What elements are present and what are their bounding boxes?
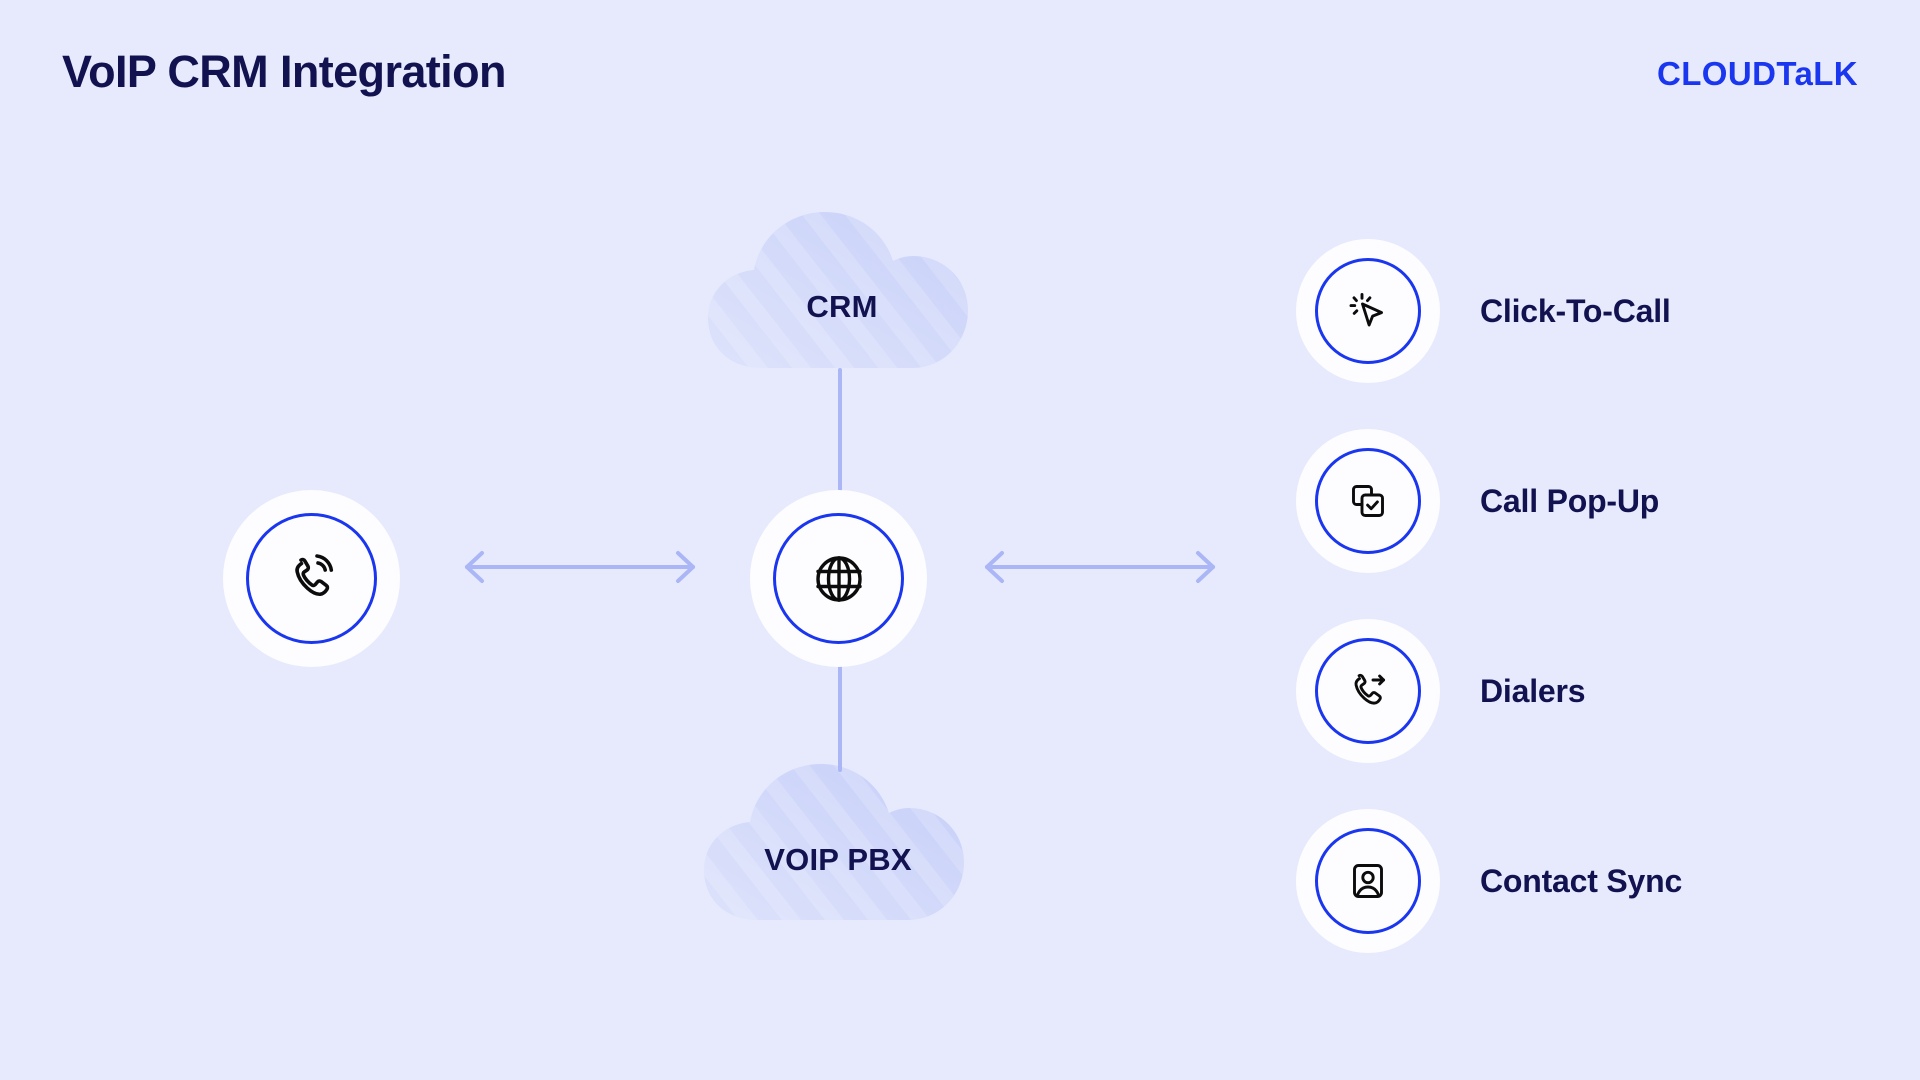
feature-badge [1296,809,1440,953]
popup-window-check-icon [1343,476,1393,526]
phone-forward-icon [1343,666,1393,716]
cursor-click-icon [1343,286,1393,336]
connector-crm-to-hub [838,368,842,496]
feature-ring [1315,258,1421,364]
double-arrow-icon [975,544,1225,590]
contact-card-icon [1343,856,1393,906]
cloudtalk-logo: CLOUDTaLK [1657,55,1858,93]
connector-arrow-right [975,544,1225,590]
cloud-shape-icon [704,200,980,368]
feature-label: Call Pop-Up [1480,483,1659,520]
feature-ring [1315,448,1421,554]
feature-row-contact-sync[interactable]: Contact Sync [1296,786,1682,976]
node-ring [246,513,377,644]
logo-part-2: a [1794,55,1813,92]
cloud-voip-pbx-label: VOIP PBX [700,842,976,878]
page-title: VoIP CRM Integration [62,46,506,98]
feature-label: Contact Sync [1480,863,1682,900]
double-arrow-icon [455,544,705,590]
globe-icon [810,550,868,608]
cloud-crm-label: CRM [704,289,980,325]
logo-part-1: CLOUDT [1657,55,1794,92]
feature-badge [1296,619,1440,763]
node-integration-hub [750,490,927,667]
cloud-crm: CRM [704,200,980,368]
feature-label: Dialers [1480,673,1585,710]
cloud-voip-pbx: VOIP PBX [700,760,976,928]
infographic-canvas: VoIP CRM Integration CLOUDTaLK [0,0,1920,1080]
feature-label: Click-To-Call [1480,293,1671,330]
feature-row-dialers[interactable]: Dialers [1296,596,1682,786]
connector-arrow-left [455,544,705,590]
node-ring [773,513,904,644]
feature-row-call-pop-up[interactable]: Call Pop-Up [1296,406,1682,596]
feature-row-click-to-call[interactable]: Click-To-Call [1296,216,1682,406]
feature-badge [1296,239,1440,383]
logo-part-3: LK [1813,55,1858,92]
feature-ring [1315,828,1421,934]
feature-list: Click-To-Call Call Pop-Up [1296,216,1682,976]
node-voip-phone [223,490,400,667]
feature-badge [1296,429,1440,573]
feature-ring [1315,638,1421,744]
phone-call-icon [281,548,343,610]
